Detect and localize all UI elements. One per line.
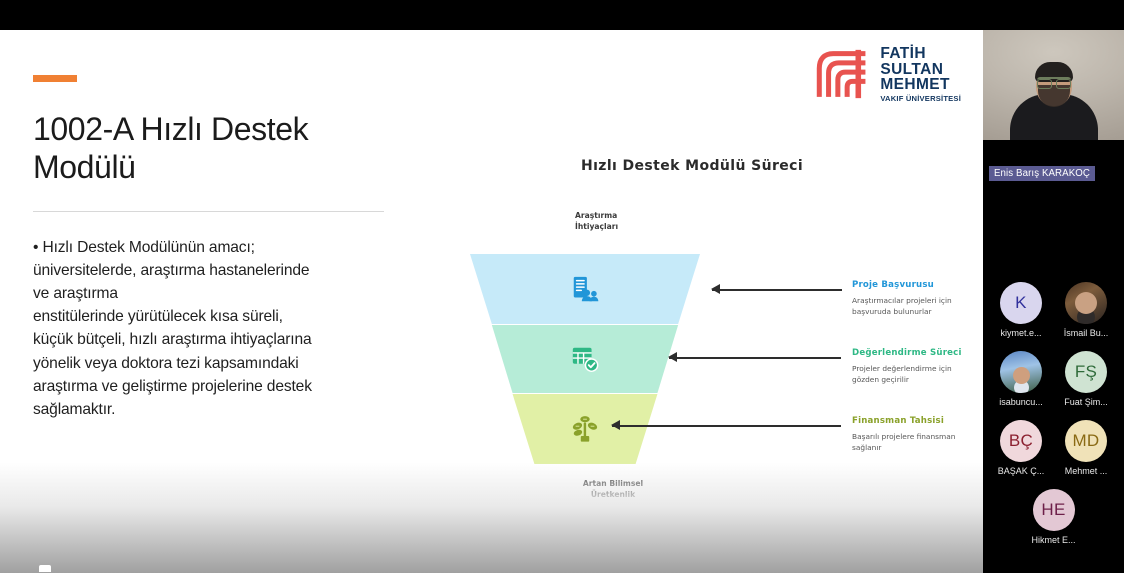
callout-description: Projeler değerlendirme için gözden geçir… <box>852 363 983 385</box>
callout-arrow-head-icon <box>611 420 620 430</box>
participant-tile[interactable]: HE Hikmet E... <box>983 489 1124 545</box>
page-title: 1002-A Hızlı Destek Modülü <box>33 111 393 187</box>
logo-line-3: MEHMET <box>880 77 961 93</box>
slide-text-column: 1002-A Hızlı Destek Modülü • Hızlı Deste… <box>33 75 393 421</box>
logo-wordmark: FATİH SULTAN MEHMET VAKIF ÜNİVERSİTESİ <box>880 46 961 102</box>
participant-name: Hikmet E... <box>1031 535 1075 545</box>
participant-tile[interactable]: İsmail Bu... <box>1054 282 1119 338</box>
funnel-top-caption: Araştırma İhtiyaçları <box>575 210 618 232</box>
logo-subtitle: VAKIF ÜNİVERSİTESİ <box>880 95 961 103</box>
participant-name: İsmail Bu... <box>1064 328 1109 338</box>
avatar: HE <box>1033 489 1075 531</box>
callout-arrow-head-icon <box>711 284 720 294</box>
logo-line-1: FATİH <box>880 46 961 62</box>
participant-tile[interactable]: BÇ BAŞAK Ç... <box>989 420 1054 476</box>
callout-description: Başarılı projelere finansman sağlanır <box>852 431 983 453</box>
participant-tile[interactable]: MD Mehmet ... <box>1054 420 1119 476</box>
funnel-bottom-caption: Artan Bilimsel Üretkenlik <box>548 478 678 500</box>
napkin-watermark: Made with Napkin <box>852 528 941 538</box>
watermark-text: Made with <box>852 528 895 538</box>
participant-name: isabuncu... <box>999 397 1043 407</box>
university-logo: FATİH SULTAN MEHMET VAKIF ÜNİVERSİTESİ <box>814 46 961 102</box>
participant-avatar-grid[interactable]: K kiymet.e... İsmail Bu... isabuncu... F… <box>983 282 1124 558</box>
funnel-stage-1 <box>470 254 700 324</box>
slide-body-text: • Hızlı Destek Modülünün amacı; üniversi… <box>33 236 393 422</box>
callout-description: Araştırmacılar projeleri için başvuruda … <box>852 295 983 317</box>
avatar: BÇ <box>1000 420 1042 462</box>
speaker-glasses-icon <box>1037 77 1071 85</box>
funnel-stage-2 <box>470 325 700 393</box>
callout-arrow-line <box>612 425 841 427</box>
watermark-brand: Napkin <box>912 528 941 538</box>
toolbar-peek-indicator[interactable] <box>39 565 51 572</box>
avatar: MD <box>1065 420 1107 462</box>
screen: 1002-A Hızlı Destek Modülü • Hızlı Deste… <box>0 0 1124 573</box>
participant-tile[interactable]: K kiymet.e... <box>989 282 1054 338</box>
funnel-diagram: Hızlı Destek Modülü Süreci Araştırma İht… <box>452 130 972 550</box>
callout-arrow-line <box>669 357 841 359</box>
callout-title: Finansman Tahsisi <box>852 416 983 426</box>
callout-arrow-line <box>712 289 842 291</box>
presentation-slide[interactable]: 1002-A Hızlı Destek Modülü • Hızlı Deste… <box>0 30 983 573</box>
participant-name: kiymet.e... <box>1000 328 1041 338</box>
funnel-shape <box>470 254 700 464</box>
avatar <box>1000 351 1042 393</box>
avatar: FŞ <box>1065 351 1107 393</box>
participant-name: Fuat Şim... <box>1064 397 1108 407</box>
callout-label-group: Proje Başvurusu Araştırmacılar projeleri… <box>852 280 983 317</box>
funnel-stage-3 <box>470 394 700 464</box>
avatar <box>1065 282 1107 324</box>
title-divider <box>33 211 384 212</box>
active-speaker-name-badge: Enis Barış KARAKOÇ <box>989 166 1095 181</box>
participant-tile[interactable]: isabuncu... <box>989 351 1054 407</box>
callout-arrow-head-icon <box>668 352 677 362</box>
callout-label-group: Finansman Tahsisi Başarılı projelere fin… <box>852 416 983 453</box>
participant-name: BAŞAK Ç... <box>998 466 1045 476</box>
checklist-approved-icon <box>570 344 600 374</box>
active-speaker-video-tile[interactable] <box>983 30 1124 140</box>
participants-panel[interactable]: Enis Barış KARAKOÇ K kiymet.e... İsmail … <box>983 0 1124 573</box>
fsm-emblem-icon <box>814 48 871 100</box>
participant-tile[interactable]: FŞ Fuat Şim... <box>1054 351 1119 407</box>
money-plant-icon <box>570 414 600 444</box>
callout-label-group: Değerlendirme Süreci Projeler değerlendi… <box>852 348 983 385</box>
callout-title: Değerlendirme Süreci <box>852 348 983 358</box>
logo-line-2: SULTAN <box>880 62 961 78</box>
callout-title: Proje Başvurusu <box>852 280 983 290</box>
document-people-icon <box>570 274 600 304</box>
avatar: K <box>1000 282 1042 324</box>
accent-bar <box>33 75 77 82</box>
participant-name: Mehmet ... <box>1065 466 1108 476</box>
diagram-title: Hızlı Destek Modülü Süreci <box>452 158 932 174</box>
napkin-logo-icon <box>899 529 908 538</box>
